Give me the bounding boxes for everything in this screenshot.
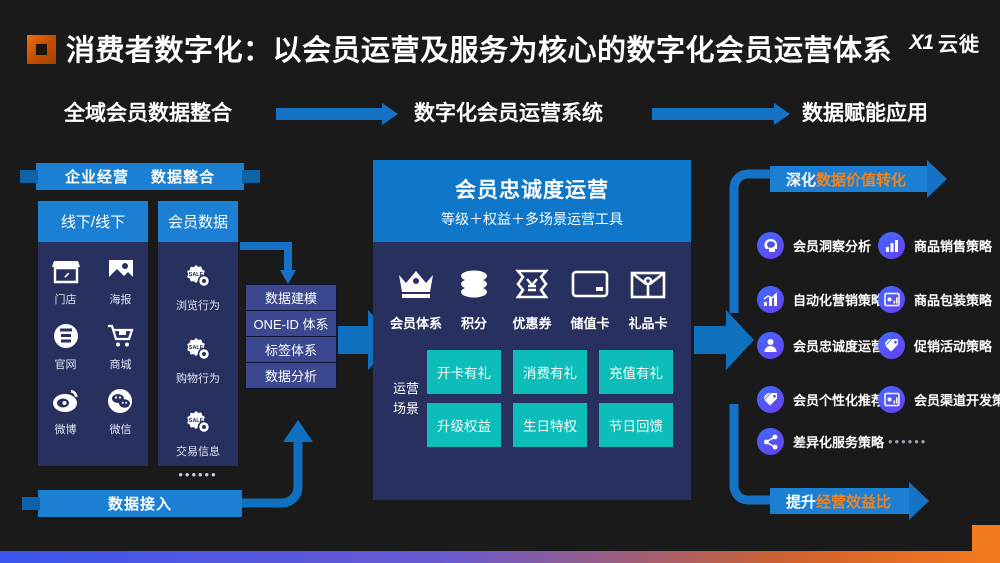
member-data-label: 购物行为: [176, 370, 220, 386]
poster-icon: [106, 256, 136, 286]
center-feature-row: 会员体系 积分: [373, 242, 691, 332]
bottom-orange-block: [972, 525, 1000, 551]
channel-label: 微博: [55, 421, 77, 437]
feature-gift-card[interactable]: 礼品卡: [619, 264, 677, 332]
right-item-label: 会员洞察分析: [793, 236, 871, 255]
shopping-cart-icon: [106, 321, 136, 351]
gift-card-icon: [630, 264, 666, 304]
left-bottom-banner-label: 数据接入: [108, 493, 172, 514]
right-item-label: 商品销售策略: [914, 236, 992, 255]
logo-mark: X1: [909, 31, 933, 55]
member-data-column-header: 会员数据: [158, 201, 238, 242]
channel-item-wechat[interactable]: 微信: [93, 386, 148, 437]
right-item-channel-development[interactable]: 会员渠道开发策略: [878, 386, 1000, 413]
right-top-banner-prefix: 深化: [786, 169, 816, 190]
right-item-differentiated-service[interactable]: 差异化服务策略: [757, 428, 884, 455]
channel-item-weibo[interactable]: 微博: [38, 386, 93, 437]
scene-cell[interactable]: 消费有礼: [513, 350, 587, 394]
right-item-auto-marketing[interactable]: 自动化营销策略: [757, 286, 884, 313]
scene-cell[interactable]: 升级权益: [427, 403, 501, 447]
right-item-promotion-activity[interactable]: 促销活动策略: [878, 332, 992, 359]
person-icon: [757, 332, 784, 359]
sale-badge-icon: SALE: [183, 262, 213, 292]
connector-member-to-model-icon: [236, 240, 306, 288]
scene-cell[interactable]: 开卡有礼: [427, 350, 501, 394]
feature-label: 储值卡: [570, 313, 609, 332]
right-item-label: 差异化服务策略: [793, 432, 884, 451]
model-item-analysis[interactable]: 数据分析: [245, 362, 337, 389]
left-bottom-banner: 数据接入: [38, 490, 242, 517]
feature-coupon[interactable]: 优惠券: [503, 264, 561, 332]
feature-stored-value-card[interactable]: 储值卡: [561, 264, 619, 332]
flow-step-2: 数字化会员运营系统: [414, 96, 603, 132]
channel-label: 海报: [110, 291, 132, 307]
feature-label: 会员体系: [390, 313, 442, 332]
sale-badge-icon: SALE: [183, 335, 213, 365]
coins-icon: [456, 264, 492, 304]
right-item-product-packaging[interactable]: 商品包装策略: [878, 286, 992, 313]
right-item-member-insight[interactable]: 会员洞察分析: [757, 232, 871, 259]
tags-icon: [757, 386, 784, 413]
share-nodes-icon: [757, 428, 784, 455]
feature-label: 优惠券: [512, 313, 551, 332]
head-insight-icon: [757, 232, 784, 259]
right-items-ellipsis: ••••••: [888, 434, 927, 449]
bar-chart-icon: [878, 232, 905, 259]
center-panel-title: 会员忠诚度运营: [455, 174, 609, 204]
data-model-stack: 数据建模 ONE-ID 体系 标签体系 数据分析: [245, 285, 337, 389]
feature-member-system[interactable]: 会员体系: [387, 264, 445, 332]
flow-steps: 全域会员数据整合 数字化会员运营系统 数据赋能应用: [0, 96, 1000, 132]
dashboard-icon: [878, 286, 905, 313]
right-item-label: 自动化营销策略: [793, 290, 884, 309]
right-item-label: 促销活动策略: [914, 336, 992, 355]
arrow-center-to-right-icon: [694, 310, 756, 370]
channel-item-store[interactable]: 门店: [38, 256, 93, 307]
channel-icon-grid: 门店 海报: [38, 242, 148, 451]
feature-points[interactable]: 积分: [445, 264, 503, 332]
right-top-banner: 深化 数据价值转化: [770, 166, 928, 192]
brand-logo: X1 云徙: [909, 28, 980, 57]
right-item-personalized-rec[interactable]: 会员个性化推荐: [757, 386, 884, 413]
center-scene-section: 运营场景 开卡有礼 消费有礼 充值有礼 升级权益 生日特权 节日回馈: [373, 332, 691, 447]
scene-cell[interactable]: 充值有礼: [599, 350, 673, 394]
flow-arrow-2-icon: [652, 103, 790, 125]
channel-item-mall[interactable]: 商城: [93, 321, 148, 372]
crown-icon: [397, 264, 435, 304]
member-data-label: 交易信息: [176, 443, 220, 459]
feature-label: 礼品卡: [628, 313, 667, 332]
center-panel-header: 会员忠诚度运营 等级＋权益＋多场景运营工具: [373, 160, 691, 242]
member-data-item-shopping[interactable]: SALE 购物行为: [158, 335, 238, 386]
flow-step-3: 数据赋能应用: [802, 96, 928, 132]
member-data-item-transaction[interactable]: SALE 交易信息: [158, 408, 238, 459]
sale-badge-icon: SALE: [183, 408, 213, 438]
channel-column: 线下/线下 门店: [38, 201, 148, 466]
right-bottom-banner-highlight: 经营效益比: [816, 491, 891, 512]
slide-canvas: 消费者数字化：以会员运营及服务为核心的数字化会员运营体系 X1 云徙 全域会员数…: [0, 0, 1000, 563]
flow-step-1: 全域会员数据整合: [64, 96, 232, 132]
right-item-loyalty-ops[interactable]: 会员忠诚度运营: [757, 332, 884, 359]
weibo-icon: [51, 386, 81, 416]
right-bottom-banner: 提升 经营效益比: [770, 488, 910, 514]
channel-item-official-site[interactable]: 官网: [38, 321, 93, 372]
channel-label: 商城: [110, 356, 132, 372]
model-item-modeling[interactable]: 数据建模: [245, 284, 337, 311]
left-banner-part-1: 企业经营: [65, 166, 129, 187]
center-panel: 会员忠诚度运营 等级＋权益＋多场景运营工具 会员体系: [373, 160, 691, 500]
bar-chart-icon: [757, 286, 784, 313]
connector-ingest-to-model-icon: [236, 408, 326, 508]
logo-text: 云徙: [938, 28, 980, 57]
right-item-label: 会员忠诚度运营: [793, 336, 884, 355]
right-bottom-banner-prefix: 提升: [786, 491, 816, 512]
right-item-label: 商品包装策略: [914, 290, 992, 309]
left-top-banner: 企业经营 数据整合: [36, 163, 244, 190]
tags-icon: [878, 332, 905, 359]
page-title: 消费者数字化：以会员运营及服务为核心的数字化会员运营体系: [66, 27, 892, 69]
member-data-icon-grid: SALE 浏览行为 SALE 购物行为: [158, 242, 238, 482]
bottom-gradient-strip: [0, 551, 1000, 563]
channel-label: 官网: [55, 356, 77, 372]
scene-cell[interactable]: 生日特权: [513, 403, 587, 447]
scene-grid: 开卡有礼 消费有礼 充值有礼 升级权益 生日特权 节日回馈: [427, 350, 673, 447]
channel-label: 微信: [110, 421, 132, 437]
model-item-one-id[interactable]: ONE-ID 体系: [245, 310, 337, 337]
member-data-item-browse[interactable]: SALE 浏览行为: [158, 262, 238, 313]
model-item-tagging[interactable]: 标签体系: [245, 336, 337, 363]
right-item-product-sales[interactable]: 商品销售策略: [878, 232, 992, 259]
right-item-label: 会员渠道开发策略: [914, 390, 1000, 409]
stored-value-card-icon: [571, 264, 609, 304]
channel-column-header: 线下/线下: [38, 201, 148, 242]
flow-arrow-1-icon: [276, 103, 398, 125]
left-banner-part-2: 数据整合: [151, 166, 215, 187]
feature-label: 积分: [461, 313, 487, 332]
scene-cell[interactable]: 节日回馈: [599, 403, 673, 447]
member-data-ellipsis: ••••••: [158, 467, 238, 482]
channel-item-poster[interactable]: 海报: [93, 256, 148, 307]
official-site-icon: [51, 321, 81, 351]
right-item-label: 会员个性化推荐: [793, 390, 884, 409]
scene-section-title: 运营场景: [393, 350, 419, 447]
coupon-yuan-icon: [515, 264, 549, 304]
dashboard-icon: [878, 386, 905, 413]
wechat-icon: [106, 386, 136, 416]
member-data-label: 浏览行为: [176, 297, 220, 313]
orange-square-icon: [27, 35, 56, 64]
right-top-banner-highlight: 数据价值转化: [816, 169, 906, 190]
center-panel-subtitle: 等级＋权益＋多场景运营工具: [441, 209, 623, 229]
channel-label: 门店: [55, 291, 77, 307]
store-icon: [51, 256, 81, 286]
member-data-column: 会员数据 SALE 浏览行为 SALE: [158, 201, 238, 466]
